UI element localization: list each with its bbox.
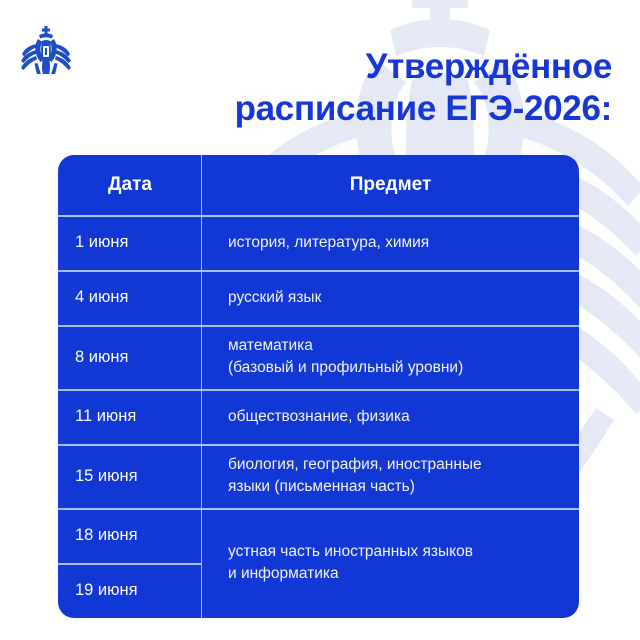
column-header-subject: Предмет: [202, 155, 579, 215]
table-row: 8 июня математика (базовый и профильный …: [58, 325, 579, 389]
table-row: 1 июня история, литература, химия: [58, 215, 579, 270]
table-row: 15 июня биология, география, иностранные…: [58, 444, 579, 508]
cell-date: 15 июня: [58, 444, 202, 508]
table-row: 11 июня обществознание, физика: [58, 389, 579, 444]
cell-date: 4 июня: [58, 270, 202, 325]
table-header-row: Дата Предмет: [58, 155, 579, 215]
cell-subject: русский язык: [202, 270, 579, 325]
table-row-merged: 18 июня 19 июня устная часть иностранных…: [58, 508, 579, 618]
cell-date: 18 июня: [58, 508, 202, 563]
cell-date: 8 июня: [58, 325, 202, 389]
cell-subject: математика (базовый и профильный уровни): [202, 325, 579, 389]
cell-subject: обществознание, физика: [202, 389, 579, 444]
merged-date-column: 18 июня 19 июня: [58, 508, 202, 618]
table-row: 4 июня русский язык: [58, 270, 579, 325]
cell-date: 19 июня: [58, 563, 202, 618]
exam-schedule-table: Дата Предмет 1 июня история, литература,…: [58, 155, 579, 618]
poster-canvas: Утверждённое расписание ЕГЭ-2026: Дата П…: [0, 0, 640, 640]
cell-date: 1 июня: [58, 215, 202, 270]
cell-subject: биология, география, иностранные языки (…: [202, 444, 579, 508]
page-title: Утверждённое расписание ЕГЭ-2026:: [0, 46, 612, 130]
cell-subject-merged: устная часть иностранных языков и информ…: [202, 508, 579, 618]
cell-date: 11 июня: [58, 389, 202, 444]
cell-subject: история, литература, химия: [202, 215, 579, 270]
column-header-date: Дата: [58, 155, 202, 215]
